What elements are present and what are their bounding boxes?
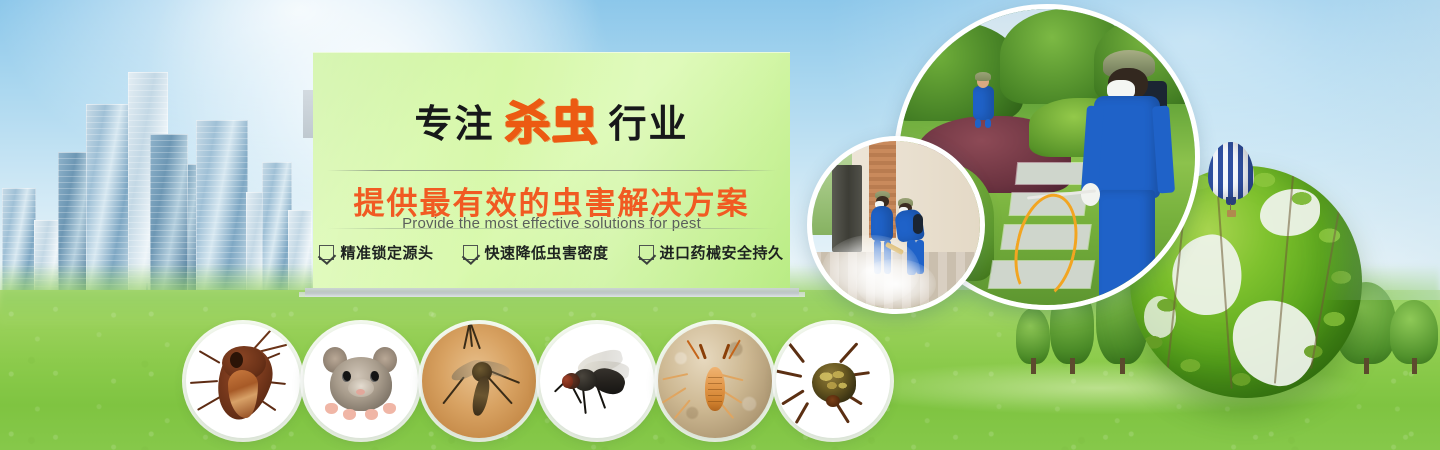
pest-circle-housefly[interactable] <box>540 324 654 438</box>
feature-label: 精准锁定源头 <box>340 242 433 263</box>
pest-circle-termite[interactable] <box>658 324 772 438</box>
balloon-basket <box>1227 210 1236 217</box>
divider-lower <box>327 228 776 229</box>
panel-base-bar <box>305 288 799 297</box>
feature-item: 快速降低虫害密度 <box>463 242 608 263</box>
panel-side-tab <box>303 90 313 138</box>
checkbox-checked-icon <box>463 245 478 260</box>
pest-circle-tick[interactable] <box>776 324 890 438</box>
balloon-neck <box>1226 197 1236 205</box>
checkbox-checked-icon <box>319 245 334 260</box>
pest-circle-mosquito[interactable] <box>422 324 536 438</box>
feature-list: 精准锁定源头 快速降低虫害密度 进口药械安全持久 <box>313 242 790 263</box>
balloon-envelope <box>1208 142 1254 200</box>
headline-prefix: 专注 <box>414 104 494 146</box>
pest-circle-cockroach[interactable] <box>186 324 300 438</box>
feature-item: 进口药械安全持久 <box>639 242 784 263</box>
feature-item: 精准锁定源头 <box>319 242 433 263</box>
fog-cloud <box>856 259 937 309</box>
work-glove <box>1081 183 1100 206</box>
hot-air-balloon <box>1208 142 1254 216</box>
feature-label: 进口药械安全持久 <box>660 242 784 263</box>
worker-figure <box>1068 50 1186 305</box>
headline-accent: 杀虫 <box>505 100 599 146</box>
headline: 专注杀虫行业 <box>313 98 790 144</box>
workers-fogging-walkway-photo <box>807 136 985 314</box>
pest-circle-rodent[interactable] <box>304 324 418 438</box>
headline-panel: 专注杀虫行业 提供最有效的虫害解决方案 Provide the most eff… <box>313 52 790 288</box>
divider-upper <box>327 170 776 171</box>
subheading-en: Provide the most effective solutions for… <box>313 215 790 232</box>
pest-control-banner: 专注杀虫行业 提供最有效的虫害解决方案 Provide the most eff… <box>0 0 1440 450</box>
headline-suffix: 行业 <box>609 104 689 146</box>
blue-uniform <box>1094 96 1160 198</box>
checkbox-checked-icon <box>639 245 654 260</box>
feature-label: 快速降低虫害密度 <box>484 242 608 263</box>
